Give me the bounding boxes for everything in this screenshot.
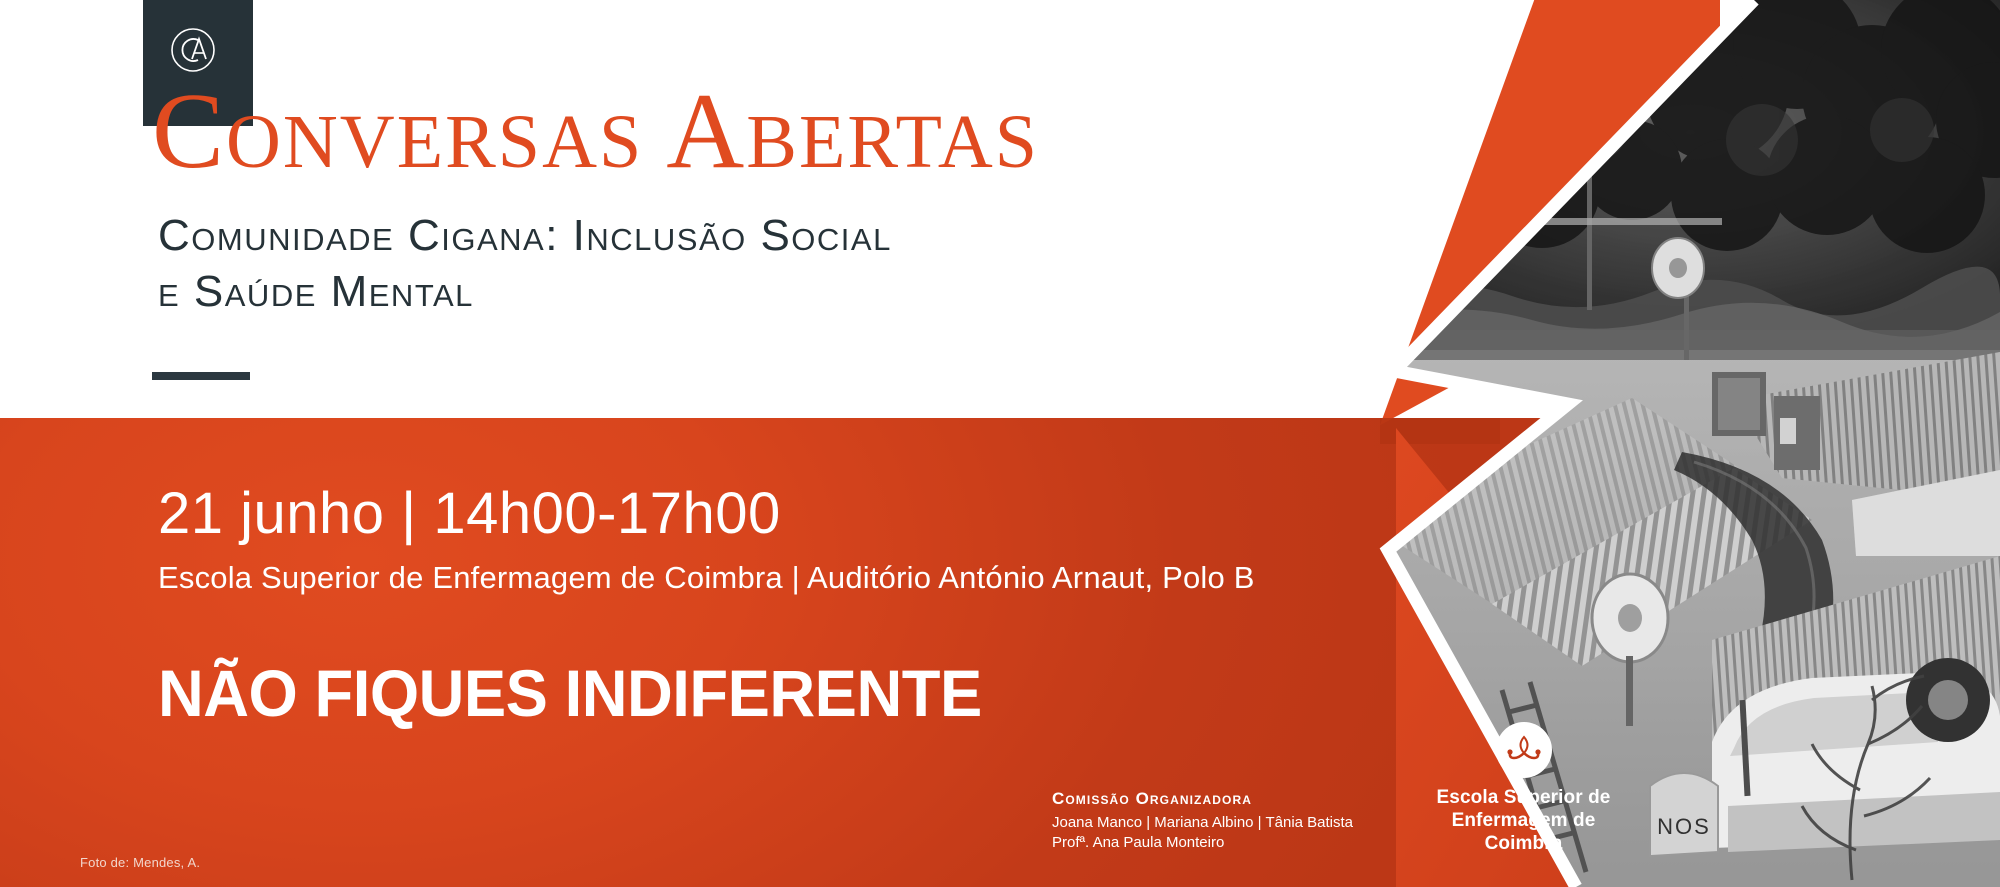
committee-members: Joana Manco | Mariana Albino | Tânia Bat…: [1052, 813, 1353, 853]
photo-credit: Foto de: Mendes, A.: [80, 855, 200, 870]
event-venue: Escola Superior de Enfermagem de Coimbra…: [158, 560, 1255, 596]
page-title: Conversas Abertas: [152, 78, 1039, 186]
event-slogan: NÃO FIQUES INDIFERENTE: [158, 655, 982, 731]
page-subtitle: Comunidade Cigana: Inclusão Social e Saú…: [158, 208, 892, 321]
event-datetime: 21 junho | 14h00-17h00: [158, 480, 781, 547]
institution-name: Escola Superior de Enfermagem de Coimbra: [1411, 786, 1636, 856]
committee-heading: Comissão Organizadora: [1052, 789, 1353, 809]
ca-monogram-icon: [165, 22, 221, 78]
esenfc-lamp-icon: [1496, 722, 1552, 778]
divider-rule: [152, 372, 250, 380]
poster-canvas: NOS: [0, 0, 2000, 887]
organizing-committee: Comissão Organizadora Joana Manco | Mari…: [1052, 789, 1353, 853]
institution-logo: Escola Superior de Enfermagem de Coimbra: [1411, 722, 1636, 856]
